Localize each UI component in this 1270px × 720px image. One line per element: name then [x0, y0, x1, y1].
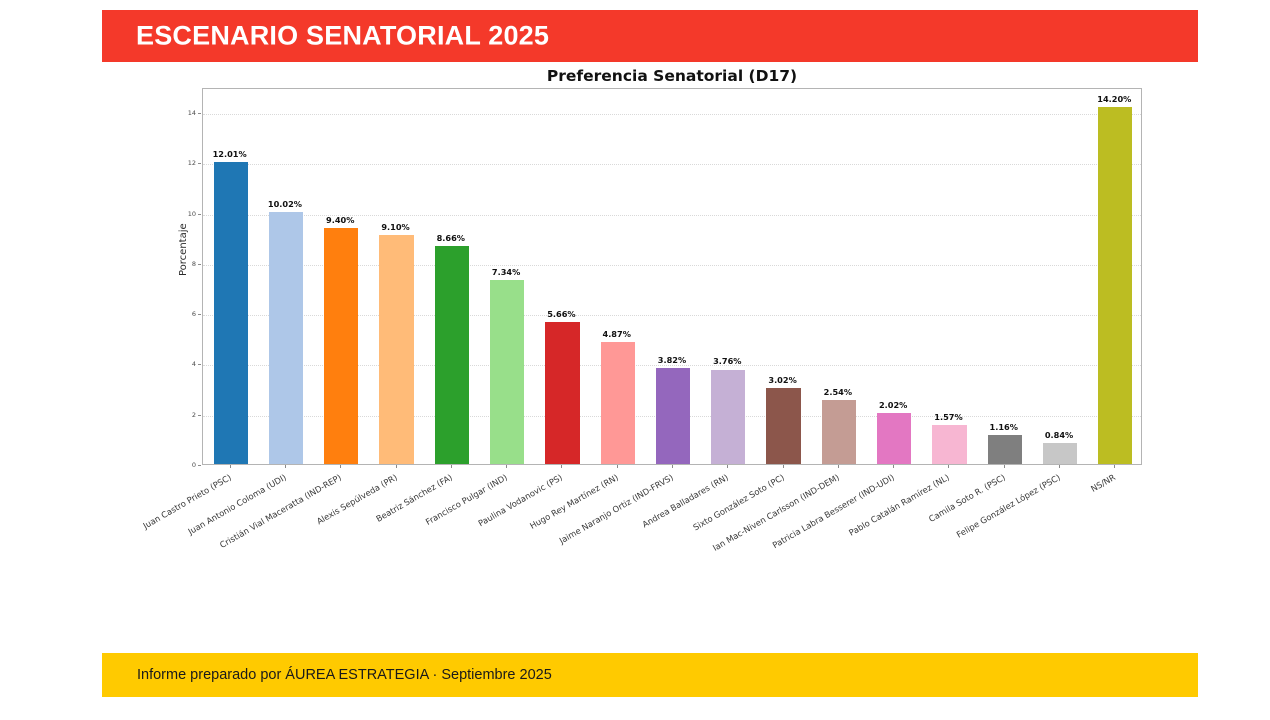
x-tick-mark [617, 465, 618, 468]
x-tick-label: Juan Castro Prieto (PSC) [141, 472, 233, 531]
y-axis-label: Porcentaje [178, 223, 189, 276]
y-tick-mark [198, 364, 201, 365]
bar-value-label: 2.54% [808, 387, 868, 397]
bar [822, 400, 856, 464]
y-tick-mark [198, 415, 201, 416]
bar-value-label: 14.20% [1084, 94, 1144, 104]
y-tick-label: 0 [176, 461, 196, 469]
x-tick-label: NS/NR [1089, 472, 1117, 494]
x-tick-mark [1059, 465, 1060, 468]
x-tick-mark [561, 465, 562, 468]
x-tick-label: Pablo Catalán Ramírez (NL) [848, 472, 952, 538]
x-tick-mark [783, 465, 784, 468]
bar-value-label: 3.76% [697, 356, 757, 366]
bar [435, 246, 469, 464]
x-tick-mark [948, 465, 949, 468]
x-tick-mark [506, 465, 507, 468]
x-tick-mark [672, 465, 673, 468]
bar-value-label: 2.02% [863, 400, 923, 410]
bar [324, 228, 358, 464]
y-tick-label: 6 [176, 310, 196, 318]
x-tick-label: Juan Antonio Coloma (UDI) [186, 472, 288, 537]
x-tick-mark [727, 465, 728, 468]
y-tick-mark [198, 264, 201, 265]
y-tick-mark [198, 214, 201, 215]
bar-value-label: 9.10% [366, 222, 426, 232]
gridline [203, 164, 1141, 165]
bar [1098, 107, 1132, 464]
bar [490, 280, 524, 464]
bar-value-label: 8.66% [421, 233, 481, 243]
bar [988, 435, 1022, 464]
bar [545, 322, 579, 464]
bar [379, 235, 413, 464]
bar [711, 370, 745, 465]
bar-value-label: 10.02% [255, 199, 315, 209]
y-tick-mark [198, 113, 201, 114]
chart-title: Preferencia Senatorial (D17) [202, 67, 1142, 85]
x-tick-mark [893, 465, 894, 468]
x-tick-mark [230, 465, 231, 468]
plot-area [202, 88, 1142, 465]
bar-value-label: 5.66% [531, 309, 591, 319]
chart-figure: Preferencia Senatorial (D17) Porcentaje … [0, 62, 1270, 622]
bar-value-label: 3.02% [753, 375, 813, 385]
bar-value-label: 0.84% [1029, 430, 1089, 440]
bar-value-label: 9.40% [310, 215, 370, 225]
y-tick-label: 2 [176, 411, 196, 419]
bar [214, 162, 248, 464]
bar-value-label: 12.01% [200, 149, 260, 159]
gridline [203, 114, 1141, 115]
bar [766, 388, 800, 464]
bar [932, 425, 966, 464]
x-tick-label: Felipe González López (PSC) [955, 472, 1062, 540]
y-tick-label: 8 [176, 260, 196, 268]
bar [1043, 443, 1077, 464]
header-banner: ESCENARIO SENATORIAL 2025 [102, 10, 1198, 62]
bar-value-label: 1.16% [974, 422, 1034, 432]
bar [877, 413, 911, 464]
x-tick-mark [838, 465, 839, 468]
bar-value-label: 3.82% [642, 355, 702, 365]
bar [269, 212, 303, 464]
bar-value-label: 1.57% [918, 412, 978, 422]
x-tick-mark [340, 465, 341, 468]
y-tick-mark [198, 163, 201, 164]
y-tick-label: 12 [176, 159, 196, 167]
y-tick-mark [198, 465, 201, 466]
y-tick-label: 10 [176, 210, 196, 218]
footer-credit: Informe preparado por ÁUREA ESTRATEGIA ·… [137, 667, 552, 683]
x-tick-label: Sixto González Soto (PC) [691, 472, 786, 532]
x-tick-label: Jaime Naranjo Ortiz (IND-FRVS) [557, 472, 675, 546]
footer-banner: Informe preparado por ÁUREA ESTRATEGIA ·… [102, 653, 1198, 697]
x-tick-mark [285, 465, 286, 468]
y-tick-label: 4 [176, 360, 196, 368]
bar [656, 368, 690, 464]
x-tick-mark [396, 465, 397, 468]
page-title: ESCENARIO SENATORIAL 2025 [136, 21, 549, 52]
y-tick-mark [198, 314, 201, 315]
bar [601, 342, 635, 464]
x-tick-mark [1004, 465, 1005, 468]
x-tick-mark [451, 465, 452, 468]
y-tick-label: 14 [176, 109, 196, 117]
bar-value-label: 4.87% [587, 329, 647, 339]
bar-value-label: 7.34% [476, 267, 536, 277]
x-tick-mark [1114, 465, 1115, 468]
